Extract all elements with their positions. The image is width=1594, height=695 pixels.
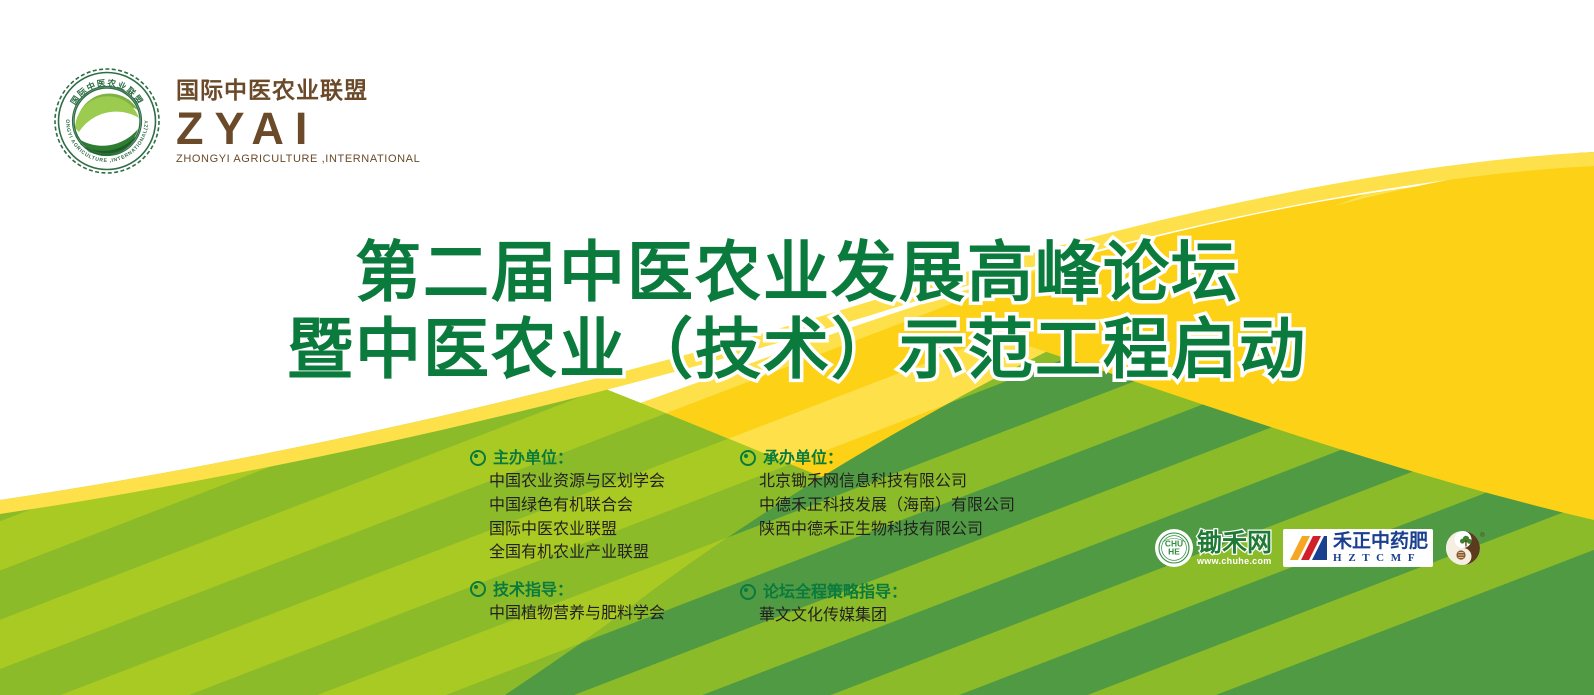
zyai-english-name: ZHONGYI AGRICULTURE ,INTERNATIONAL bbox=[176, 154, 420, 165]
svg-text:®: ® bbox=[1480, 532, 1485, 539]
svg-text:HE: HE bbox=[1168, 547, 1180, 557]
zyai-logo-block: 国际中医农业联盟 ZHONGYI AGRICULTURE ,INTERNATIO… bbox=[52, 66, 420, 176]
zyai-circular-seal-icon: 国际中医农业联盟 ZHONGYI AGRICULTURE ,INTERNATIO… bbox=[52, 66, 162, 176]
zyai-chinese-name: 国际中医农业联盟 bbox=[176, 80, 420, 103]
credits-spacer bbox=[470, 564, 740, 578]
credit-heading-label: 技术指导： bbox=[493, 578, 573, 601]
credit-heading-label: 主办单位： bbox=[493, 446, 573, 469]
title-line-1: 第二届中医农业发展高峰论坛 bbox=[0, 238, 1594, 309]
credit-group-strategy-guidance: 论坛全程策略指导： 華文文化传媒集团 bbox=[740, 580, 1070, 627]
hz-wordmark: 禾正中药肥 H Z T C M F bbox=[1333, 532, 1428, 564]
credit-item: 中国绿色有机联合会 bbox=[489, 493, 740, 517]
credit-heading: 技术指导： bbox=[470, 578, 740, 601]
title-line-2: 暨中医农业（技术）示范工程启动 bbox=[0, 315, 1594, 386]
poster-title: 第二届中医农业发展高峰论坛 暨中医农业（技术）示范工程启动 bbox=[0, 238, 1594, 385]
tree-root-yinyang-icon: ® bbox=[1444, 528, 1486, 568]
hz-name: 禾正中药肥 bbox=[1333, 532, 1428, 551]
credit-heading: 承办单位： bbox=[740, 446, 1070, 469]
green-ring-bullet-icon bbox=[740, 450, 756, 466]
green-ring-bullet-icon bbox=[470, 581, 486, 597]
hz-english: H Z T C M F bbox=[1333, 553, 1428, 564]
chuhe-wordmark: 锄禾网 www.chuhe.com bbox=[1197, 530, 1272, 566]
credit-heading: 论坛全程策略指导： bbox=[740, 580, 1070, 603]
credit-group-technical-guidance: 技术指导： 中国植物营养与肥料学会 bbox=[470, 578, 740, 625]
zyai-wordmark: 国际中医农业联盟 ZYAI ZHONGYI AGRICULTURE ,INTER… bbox=[176, 78, 420, 165]
poster-canvas: 国际中医农业联盟 ZHONGYI AGRICULTURE ,INTERNATIO… bbox=[0, 0, 1594, 695]
hz-slash-badge-icon bbox=[1288, 534, 1328, 562]
sponsor-tree-root: ® bbox=[1444, 528, 1486, 568]
credit-item: 華文文化传媒集团 bbox=[759, 603, 1070, 627]
credit-heading-label: 承办单位： bbox=[763, 446, 843, 469]
credit-item: 中国农业资源与区划学会 bbox=[489, 469, 740, 493]
credits-spacer bbox=[740, 540, 1070, 580]
sponsor-hztcmf: 禾正中药肥 H Z T C M F bbox=[1283, 529, 1433, 567]
sponsor-chuhe: CHU HE 锄禾网 www.chuhe.com bbox=[1155, 529, 1272, 567]
credit-group-organizers: 主办单位： 中国农业资源与区划学会 中国绿色有机联合会 国际中医农业联盟 全国有… bbox=[470, 446, 740, 564]
zyai-acronym: ZYAI bbox=[176, 106, 420, 151]
chuhe-url: www.chuhe.com bbox=[1197, 557, 1272, 566]
credit-item: 北京锄禾网信息科技有限公司 bbox=[759, 469, 1070, 493]
green-ring-bullet-icon bbox=[470, 450, 486, 466]
sponsor-logo-row: CHU HE 锄禾网 www.chuhe.com 禾正中药肥 H Z T C M… bbox=[1155, 528, 1486, 568]
credit-heading-label: 论坛全程策略指导： bbox=[763, 580, 907, 603]
chuhe-circular-leaf-icon: CHU HE bbox=[1155, 529, 1193, 567]
credits-column-left: 主办单位： 中国农业资源与区划学会 中国绿色有机联合会 国际中医农业联盟 全国有… bbox=[470, 446, 740, 627]
credit-item: 陕西中德禾正生物科技有限公司 bbox=[759, 517, 1070, 541]
credits-block: 主办单位： 中国农业资源与区划学会 中国绿色有机联合会 国际中医农业联盟 全国有… bbox=[470, 446, 1070, 627]
credit-group-co-organizers: 承办单位： 北京锄禾网信息科技有限公司 中德禾正科技发展（海南）有限公司 陕西中… bbox=[740, 446, 1070, 540]
credits-column-right: 承办单位： 北京锄禾网信息科技有限公司 中德禾正科技发展（海南）有限公司 陕西中… bbox=[740, 446, 1070, 627]
credit-heading: 主办单位： bbox=[470, 446, 740, 469]
credit-item: 中国植物营养与肥料学会 bbox=[489, 601, 740, 625]
credit-item: 中德禾正科技发展（海南）有限公司 bbox=[759, 493, 1070, 517]
credit-item: 国际中医农业联盟 bbox=[489, 517, 740, 541]
green-ring-bullet-icon bbox=[740, 584, 756, 600]
credit-item: 全国有机农业产业联盟 bbox=[489, 540, 740, 564]
chuhe-name: 锄禾网 bbox=[1197, 530, 1272, 555]
